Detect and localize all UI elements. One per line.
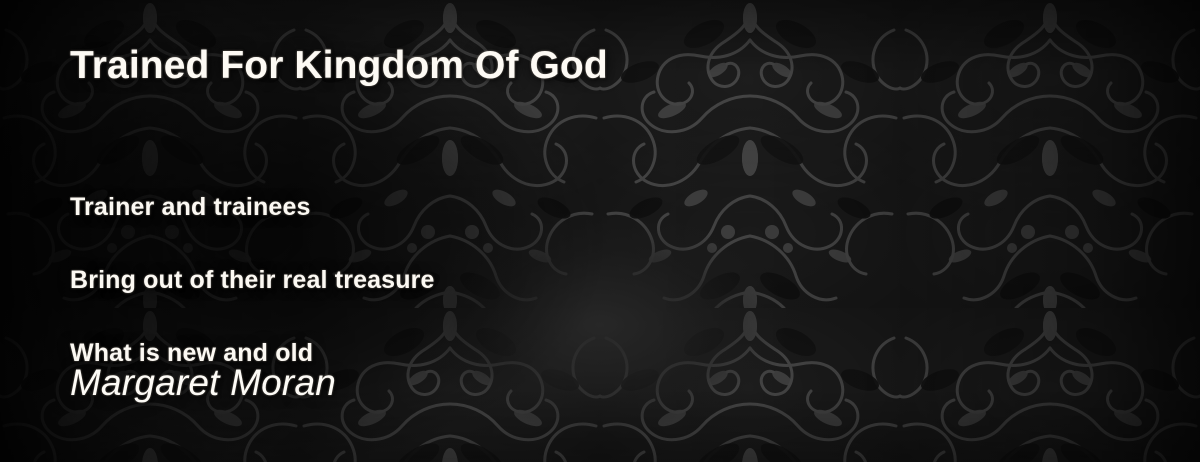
- poem-author: Margaret Moran: [70, 362, 336, 403]
- poem-content: Trained For Kingdom Of God Trainer and t…: [0, 0, 1200, 462]
- poem-line: Bring out of their real treasure: [70, 256, 435, 304]
- poem-title: Trained For Kingdom Of God: [70, 44, 608, 88]
- poem-image-card: Trained For Kingdom Of God Trainer and t…: [0, 0, 1200, 462]
- poem-line: Trainer and trainees: [70, 183, 435, 231]
